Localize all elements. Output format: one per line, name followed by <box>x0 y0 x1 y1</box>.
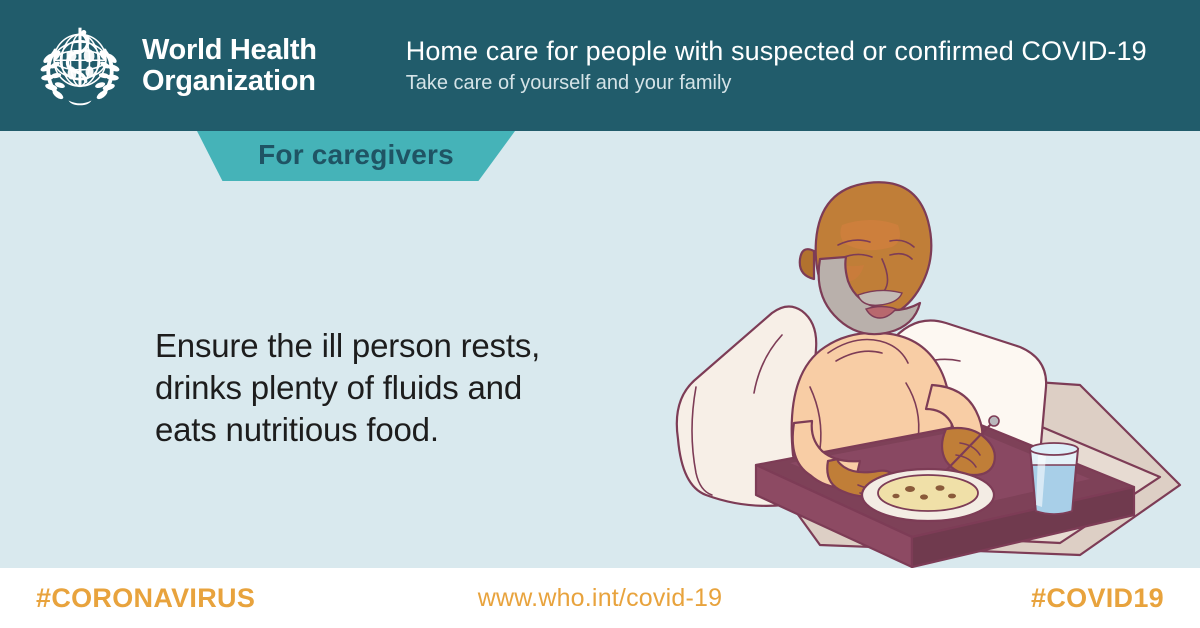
banner-label: For caregivers <box>197 131 515 181</box>
hashtag-covid19[interactable]: #COVID19 <box>1031 583 1164 614</box>
who-emblem-icon <box>32 20 128 112</box>
audience-banner: For caregivers <box>197 131 515 181</box>
illustration-elderly-man-eating-in-bed: .ol { stroke:#7d3c56; stroke-width:2.2; … <box>660 155 1200 575</box>
who-covid-url[interactable]: www.who.int/covid-19 <box>0 584 1200 613</box>
poster-canvas: World Health Organization Home care for … <box>0 0 1200 628</box>
main-message: Ensure the ill person rests, drinks plen… <box>155 325 585 451</box>
header-text-group: Home care for people with suspected or c… <box>406 34 1147 97</box>
footer-bar: #CORONAVIRUS www.who.int/covid-19 #COVID… <box>0 568 1200 628</box>
who-wordmark: World Health Organization <box>142 35 317 97</box>
header-subtitle: Take care of yourself and your family <box>406 69 1147 97</box>
header-title: Home care for people with suspected or c… <box>406 34 1147 68</box>
illustration-svg: .ol { stroke:#7d3c56; stroke-width:2.2; … <box>660 155 1200 575</box>
header-bar: World Health Organization Home care for … <box>0 0 1200 131</box>
